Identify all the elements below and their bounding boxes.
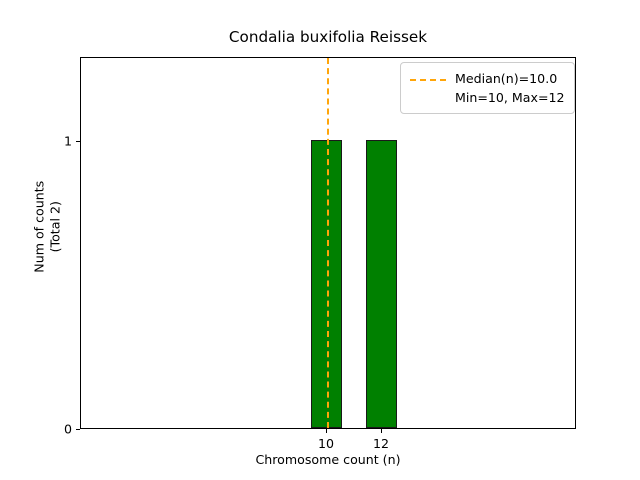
x-tick-mark-10 [326,429,327,433]
bar-n-12 [366,140,397,428]
legend: Median(n)=10.0 Min=10, Max=12 [400,62,575,114]
x-tick-mark-12 [381,429,382,433]
chart-title: Condalia buxifolia Reissek [80,28,576,46]
matplotlib-figure: Condalia buxifolia Reissek 1 0 10 12 Chr… [0,0,640,480]
legend-entry-median: Median(n)=10.0 [410,69,565,88]
y-tick-mark-1 [76,141,80,142]
y-tick-label-0: 0 [64,422,72,437]
y-tick-label-1: 1 [64,134,72,149]
legend-label-minmax: Min=10, Max=12 [455,90,565,105]
blank-swatch-icon [410,91,446,104]
legend-entry-minmax: Min=10, Max=12 [410,88,565,107]
median-line [327,58,329,428]
x-tick-label-12: 12 [373,436,389,451]
x-axis-label: Chromosome count (n) [80,452,576,467]
y-axis-label: Num of counts (Total 2) [31,41,62,413]
legend-label-median: Median(n)=10.0 [455,71,557,86]
x-tick-label-10: 10 [318,436,334,451]
dashed-line-icon [410,72,446,85]
